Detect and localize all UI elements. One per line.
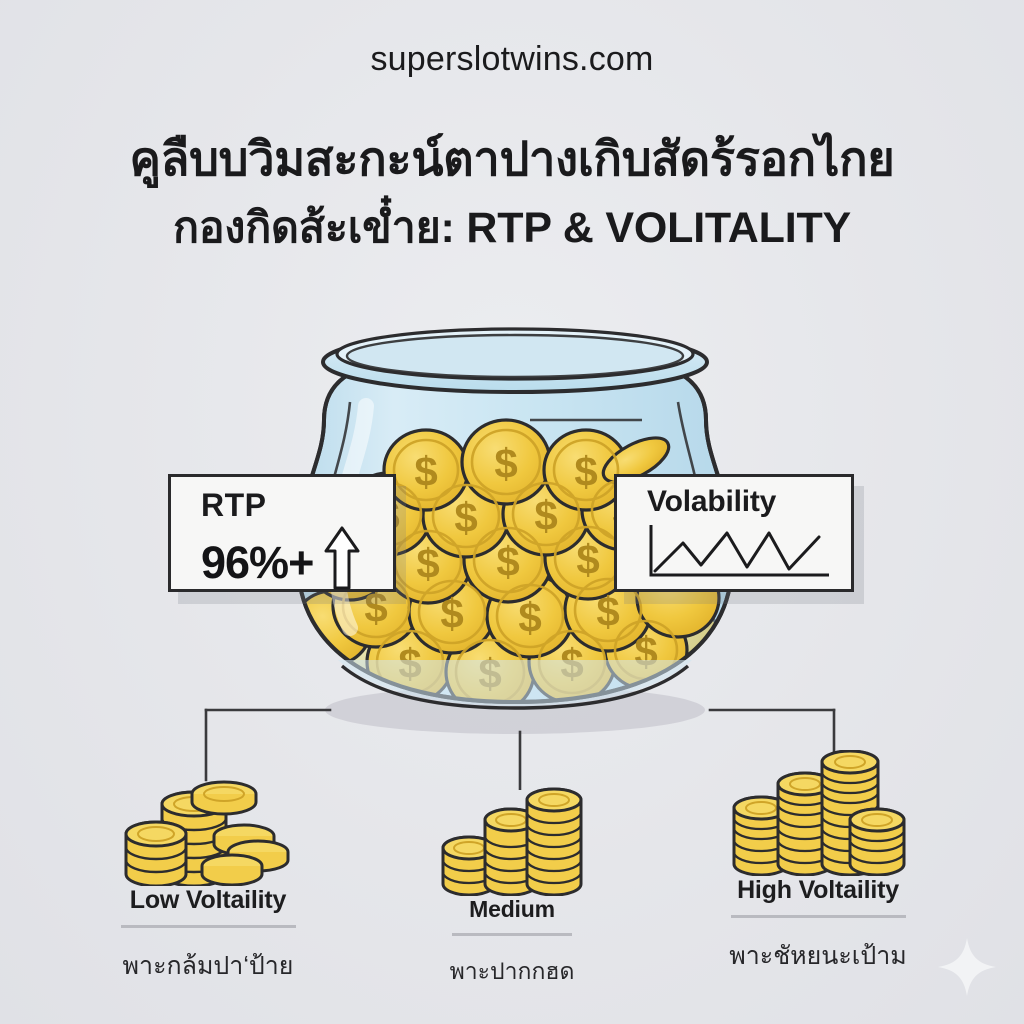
zigzag-line-chart-icon: [643, 521, 851, 588]
category-subtitle: พาะกล้มปาʻป้าย: [58, 946, 358, 986]
svg-text:$: $: [440, 590, 463, 637]
sparkle-icon: [936, 936, 998, 998]
headline-line-2: กองกิดส้ะเข๋ำย: RTP & VOLITALITY: [0, 198, 1024, 258]
rtp-value: 96%+: [201, 538, 313, 588]
category-rule: [731, 915, 906, 918]
category-title: High Voltaility: [668, 876, 968, 905]
category-low-volatility: Low Voltaility พาะกล้มปาʻป้าย: [58, 766, 358, 986]
rtp-badge-card[interactable]: RTP 96%+: [168, 474, 396, 592]
site-name: superslotwins.com: [0, 40, 1024, 79]
svg-text:$: $: [518, 594, 541, 641]
rtp-value-row: 96%+: [201, 525, 393, 600]
page-title: คูลืบบวิมสะกะน์ตาปางเกิบสัดร้รอกไกย กองก…: [0, 128, 1024, 258]
coin-stack-low-icon: [58, 766, 358, 886]
category-title: Low Voltaility: [58, 886, 358, 915]
svg-text:$: $: [494, 440, 517, 487]
rtp-label: RTP: [201, 487, 393, 523]
volatility-label: Volability: [647, 485, 851, 519]
svg-text:$: $: [576, 536, 599, 583]
svg-text:$: $: [534, 492, 557, 539]
coin-stack-medium-icon: [372, 776, 652, 896]
coin-stack-high-icon: [668, 756, 968, 876]
arrow-up-icon: [323, 525, 361, 596]
volatility-badge-card[interactable]: Volability: [614, 474, 854, 592]
category-subtitle: พาะปากกฮด: [372, 954, 652, 990]
svg-text:$: $: [454, 494, 477, 541]
category-title: Medium: [372, 896, 652, 923]
svg-text:$: $: [574, 448, 597, 495]
svg-text:$: $: [496, 538, 519, 585]
category-rule: [452, 933, 572, 936]
category-high-volatility: High Voltaility พาะชัหยนะเป้าม: [668, 756, 968, 976]
headline-line-1: คูลืบบวิมสะกะน์ตาปางเกิบสัดร้รอกไกย: [0, 128, 1024, 190]
category-medium-volatility: Medium พาะปากกฮด: [372, 776, 652, 990]
svg-text:$: $: [414, 448, 437, 495]
category-subtitle: พาะชัหยนะเป้าม: [668, 936, 968, 976]
infographic-canvas: superslotwins.com คูลืบบวิมสะกะน์ตาปางเก…: [0, 0, 1024, 1024]
svg-text:$: $: [416, 540, 439, 587]
svg-text:$: $: [596, 588, 619, 635]
category-rule: [121, 925, 296, 928]
